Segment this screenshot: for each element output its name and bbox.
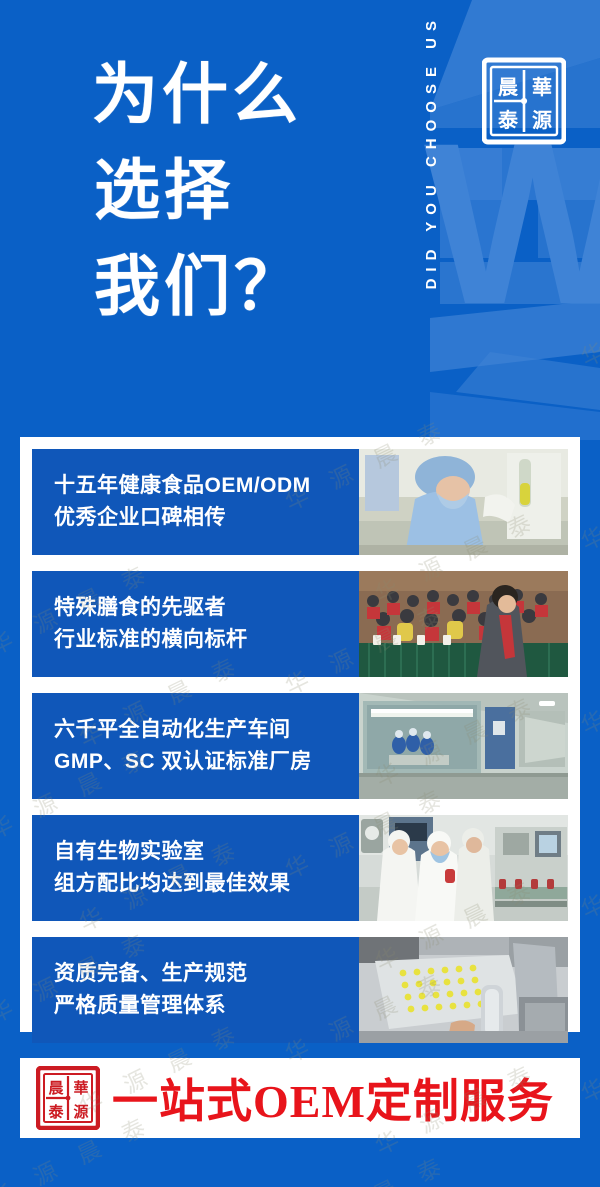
feature-line-1: 资质完备、生产规范 [54,958,359,990]
conference-audience-photo [359,571,568,677]
feature-card[interactable]: 六千平全自动化生产车间 GMP、SC 双认证标准厂房 [32,693,568,799]
title-line-1: 为什么 [92,48,392,144]
svg-text:源: 源 [73,1103,88,1121]
vertical-english-tagline: DID YOU CHOOSE US [418,14,444,404]
tablet-packaging-machine-photo [359,937,568,1043]
svg-text:晨: 晨 [48,1079,64,1097]
feature-line-1: 十五年健康食品OEM/ODM [54,470,359,502]
feature-card[interactable]: 资质完备、生产规范 严格质量管理体系 [32,937,568,1043]
feature-line-2: 组方配比均达到最佳效果 [54,868,359,900]
feature-card[interactable]: 特殊膳食的先驱者 行业标准的横向标杆 [32,571,568,677]
feature-card-text: 六千平全自动化生产车间 GMP、SC 双认证标准厂房 [32,693,359,799]
title-line-3: 我们？ [92,240,392,336]
vertical-english-text: DID YOU CHOOSE US [423,14,440,289]
svg-text:源: 源 [532,108,552,132]
production-line-workers-photo [359,815,568,921]
feature-card-text: 自有生物实验室 组方配比均达到最佳效果 [32,815,359,921]
lab-technician-photo [359,449,568,555]
svg-text:華: 華 [532,75,552,99]
brand-seal-logo-red: 晨 泰 華 源 [36,1066,100,1130]
feature-line-1: 特殊膳食的先驱者 [54,592,359,624]
svg-text:華: 華 [73,1079,88,1097]
banner-headline: 一站式OEM定制服务 [112,1065,554,1131]
feature-line-1: 六千平全自动化生产车间 [54,714,359,746]
feature-card-text: 十五年健康食品OEM/ODM 优秀企业口碑相传 [32,449,359,555]
feature-line-2: 行业标准的横向标杆 [54,624,359,656]
feature-line-2: 优秀企业口碑相传 [54,502,359,534]
cleanroom-corridor-photo [359,693,568,799]
feature-card-list: 十五年健康食品OEM/ODM 优秀企业口碑相传 [32,449,568,1043]
feature-line-1: 自有生物实验室 [54,836,359,868]
svg-text:泰: 泰 [47,1103,64,1121]
brand-seal-logo-white: 晨 泰 華 源 [482,57,566,145]
feature-line-2: GMP、SC 双认证标准厂房 [54,746,359,778]
feature-line-2: 严格质量管理体系 [54,990,359,1022]
feature-card[interactable]: 自有生物实验室 组方配比均达到最佳效果 [32,815,568,921]
title-line-2: 选择 [92,144,392,240]
feature-card-text: 资质完备、生产规范 严格质量管理体系 [32,937,359,1043]
feature-card-text: 特殊膳食的先驱者 行业标准的横向标杆 [32,571,359,677]
bottom-banner[interactable]: 晨 泰 華 源 一站式OEM定制服务 [20,1058,580,1138]
poster-root: WHY 为什么 选择 我们？ DID YOU CHOOSE US 晨 泰 華 源… [0,0,600,1187]
svg-text:泰: 泰 [497,108,519,132]
feature-card[interactable]: 十五年健康食品OEM/ODM 优秀企业口碑相传 [32,449,568,555]
svg-text:晨: 晨 [498,75,519,99]
page-title: 为什么 选择 我们？ [92,48,392,336]
